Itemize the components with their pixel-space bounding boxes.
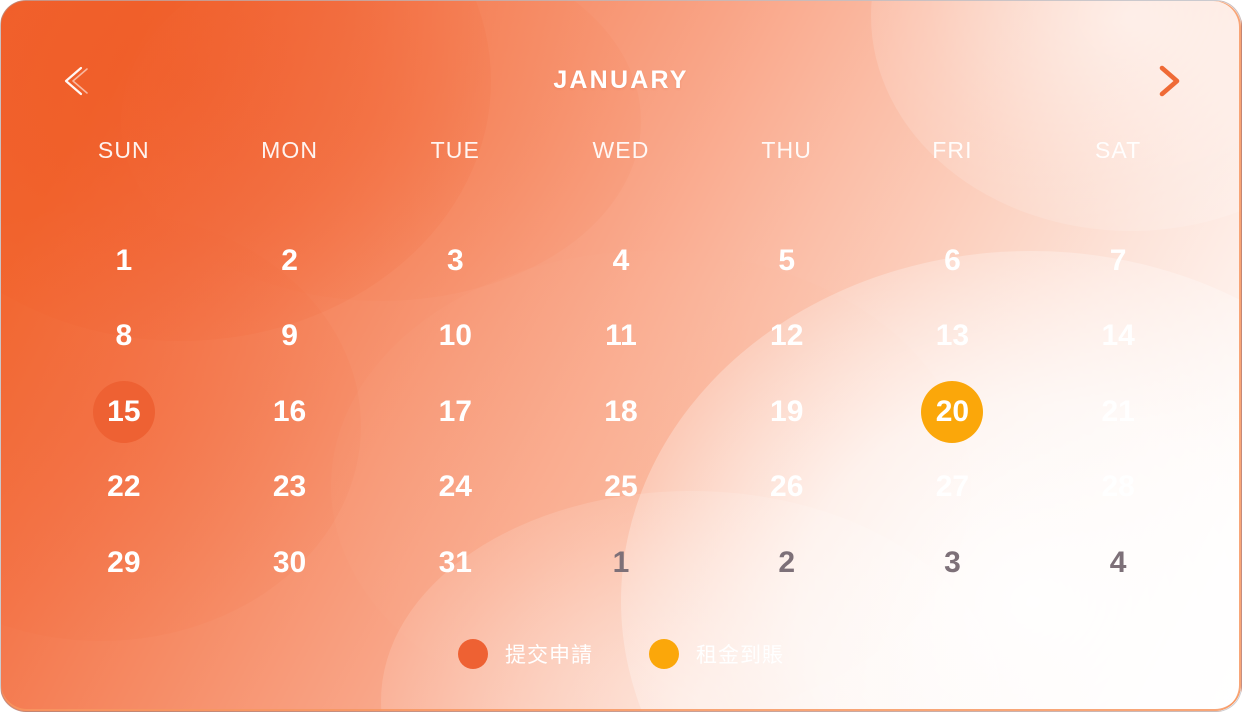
date-number: 2: [756, 532, 818, 594]
legend-label-submit: 提交申請: [505, 639, 593, 669]
date-number: 17: [424, 381, 486, 443]
date-cell[interactable]: 5: [704, 223, 870, 299]
next-month-button[interactable]: [1141, 54, 1195, 108]
date-number: 26: [756, 456, 818, 518]
date-number: 10: [424, 305, 486, 367]
date-number-marked-submit: 15: [93, 381, 155, 443]
date-cell[interactable]: 1: [538, 525, 704, 601]
date-cell[interactable]: 11: [538, 299, 704, 375]
date-cell[interactable]: 12: [704, 299, 870, 375]
date-number: 11: [590, 305, 652, 367]
weekday-header-tue: TUE: [372, 137, 538, 164]
date-number: 24: [424, 456, 486, 518]
date-number: 3: [921, 532, 983, 594]
calendar-card: JANUARY SUNMONTUEWEDTHUFRISAT 1234567891…: [0, 0, 1242, 712]
date-number: 16: [259, 381, 321, 443]
legend-item-paid: 租金到賬: [649, 639, 784, 669]
date-cell[interactable]: 20: [870, 374, 1036, 450]
legend-item-submit: 提交申請: [458, 639, 593, 669]
date-number: 1: [93, 230, 155, 292]
date-number: 22: [93, 456, 155, 518]
legend-label-paid: 租金到賬: [696, 639, 784, 669]
date-number: 13: [921, 305, 983, 367]
date-cell[interactable]: 13: [870, 299, 1036, 375]
date-number: 25: [590, 456, 652, 518]
calendar-legend: 提交申請租金到賬: [1, 639, 1241, 669]
date-cell[interactable]: 15: [41, 374, 207, 450]
date-cell[interactable]: 4: [538, 223, 704, 299]
date-number: 5: [756, 230, 818, 292]
date-cell[interactable]: 4: [1035, 525, 1201, 601]
date-cell[interactable]: 25: [538, 450, 704, 526]
legend-dot-paid-icon: [649, 639, 679, 669]
weekday-header-sun: SUN: [41, 137, 207, 164]
date-cell[interactable]: 3: [870, 525, 1036, 601]
date-number: 3: [424, 230, 486, 292]
date-number: 30: [259, 532, 321, 594]
date-number: 21: [1087, 381, 1149, 443]
weekday-header-fri: FRI: [870, 137, 1036, 164]
date-cell[interactable]: 31: [372, 525, 538, 601]
date-cell[interactable]: 6: [870, 223, 1036, 299]
date-cell[interactable]: 22: [41, 450, 207, 526]
date-number: 4: [1087, 532, 1149, 594]
date-number: 14: [1087, 305, 1149, 367]
date-cell[interactable]: 23: [207, 450, 373, 526]
date-number: 9: [259, 305, 321, 367]
date-number: 28: [1087, 456, 1149, 518]
date-number: 29: [93, 532, 155, 594]
date-cell[interactable]: 7: [1035, 223, 1201, 299]
date-cell[interactable]: 16: [207, 374, 373, 450]
date-cell[interactable]: 29: [41, 525, 207, 601]
date-cell[interactable]: 30: [207, 525, 373, 601]
date-number: 18: [590, 381, 652, 443]
date-cell[interactable]: 3: [372, 223, 538, 299]
weekday-header-wed: WED: [538, 137, 704, 164]
chevron-left-icon: [59, 64, 89, 98]
date-cell[interactable]: 18: [538, 374, 704, 450]
date-number: 8: [93, 305, 155, 367]
date-cell[interactable]: 21: [1035, 374, 1201, 450]
date-cell[interactable]: 24: [372, 450, 538, 526]
date-number: 27: [921, 456, 983, 518]
date-number: 4: [590, 230, 652, 292]
date-grid: 1234567891011121314151617181920212223242…: [1, 223, 1241, 601]
date-cell[interactable]: 17: [372, 374, 538, 450]
date-number: 6: [921, 230, 983, 292]
date-number: 12: [756, 305, 818, 367]
weekday-header-thu: THU: [704, 137, 870, 164]
weekday-header-sat: SAT: [1035, 137, 1201, 164]
date-number: 23: [259, 456, 321, 518]
previous-month-button[interactable]: [47, 54, 101, 108]
date-number: 1: [590, 532, 652, 594]
calendar-content: JANUARY SUNMONTUEWEDTHUFRISAT 1234567891…: [1, 1, 1241, 711]
date-cell[interactable]: 14: [1035, 299, 1201, 375]
date-cell[interactable]: 10: [372, 299, 538, 375]
month-title: JANUARY: [553, 66, 688, 95]
chevron-right-icon: [1153, 64, 1183, 98]
date-number: 31: [424, 532, 486, 594]
date-number-marked-paid: 20: [921, 381, 983, 443]
date-cell[interactable]: 8: [41, 299, 207, 375]
weekday-header-row: SUNMONTUEWEDTHUFRISAT: [1, 137, 1241, 164]
date-cell[interactable]: 2: [704, 525, 870, 601]
date-number: 19: [756, 381, 818, 443]
date-number: 7: [1087, 230, 1149, 292]
weekday-header-mon: MON: [207, 137, 373, 164]
date-cell[interactable]: 27: [870, 450, 1036, 526]
date-cell[interactable]: 28: [1035, 450, 1201, 526]
date-cell[interactable]: 2: [207, 223, 373, 299]
date-cell[interactable]: 19: [704, 374, 870, 450]
calendar-header: JANUARY: [1, 1, 1241, 146]
date-cell[interactable]: 26: [704, 450, 870, 526]
date-number: 2: [259, 230, 321, 292]
date-cell[interactable]: 1: [41, 223, 207, 299]
date-cell[interactable]: 9: [207, 299, 373, 375]
legend-dot-submit-icon: [458, 639, 488, 669]
